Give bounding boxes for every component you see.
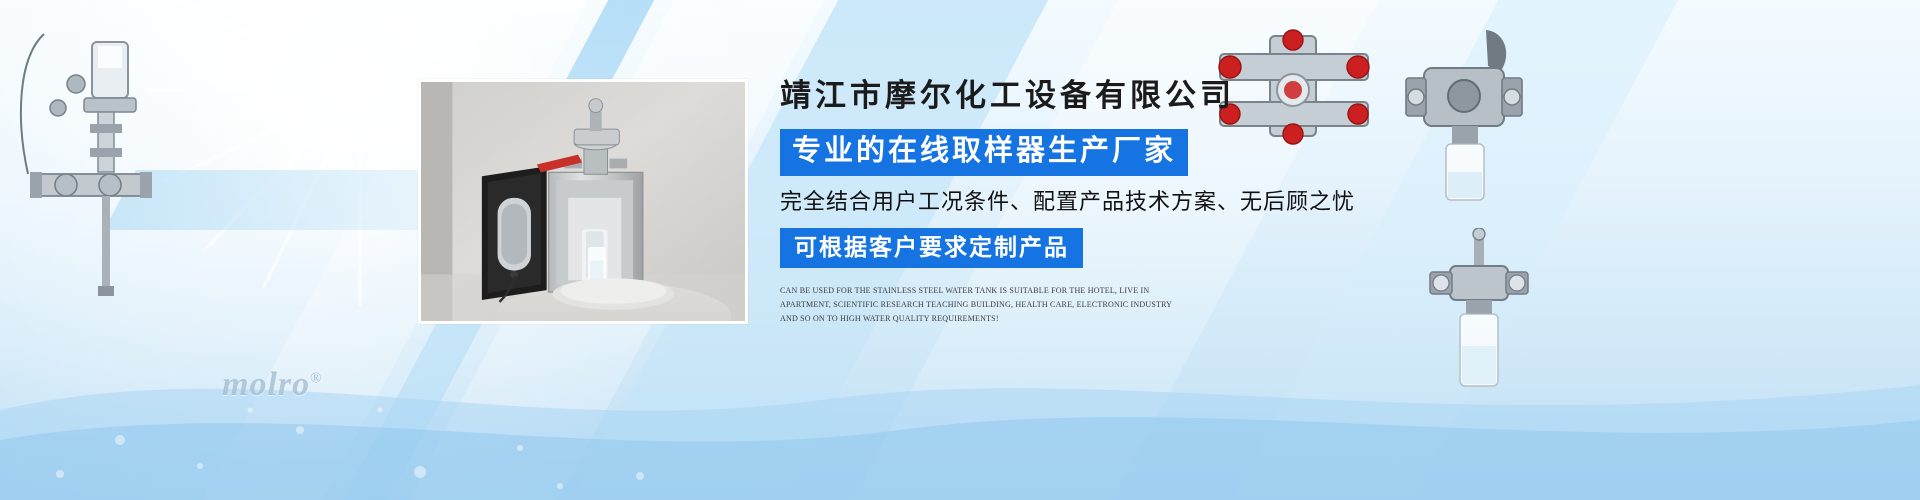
- brand-watermark: molro®: [222, 366, 322, 404]
- sampling-valve-assembly-icon: [6, 24, 176, 314]
- banner-text-block: 靖江市摩尔化工设备有限公司 专业的在线取样器生产厂家 完全结合用户工况条件、配置…: [780, 80, 1400, 326]
- english-description: CAN BE USED FOR THE STAINLESS STEEL WATE…: [780, 284, 1180, 326]
- watermark-text: molro: [222, 366, 310, 403]
- registered-mark-icon: ®: [310, 371, 322, 387]
- headline-badge: 专业的在线取样器生产厂家: [780, 129, 1188, 176]
- banner-subline: 完全结合用户工况条件、配置产品技术方案、无后顾之忧: [780, 191, 1400, 213]
- secondary-badge: 可根据客户要求定制产品: [780, 228, 1083, 268]
- inline-sampler-valve-icon: [1420, 228, 1540, 408]
- flanged-sampler-icon: [1400, 22, 1530, 212]
- page-title: 靖江市摩尔化工设备有限公司: [780, 80, 1400, 111]
- promo-banner: 靖江市摩尔化工设备有限公司 专业的在线取样器生产厂家 完全结合用户工况条件、配置…: [0, 0, 1920, 500]
- sampling-cabinet-photo: [418, 79, 748, 324]
